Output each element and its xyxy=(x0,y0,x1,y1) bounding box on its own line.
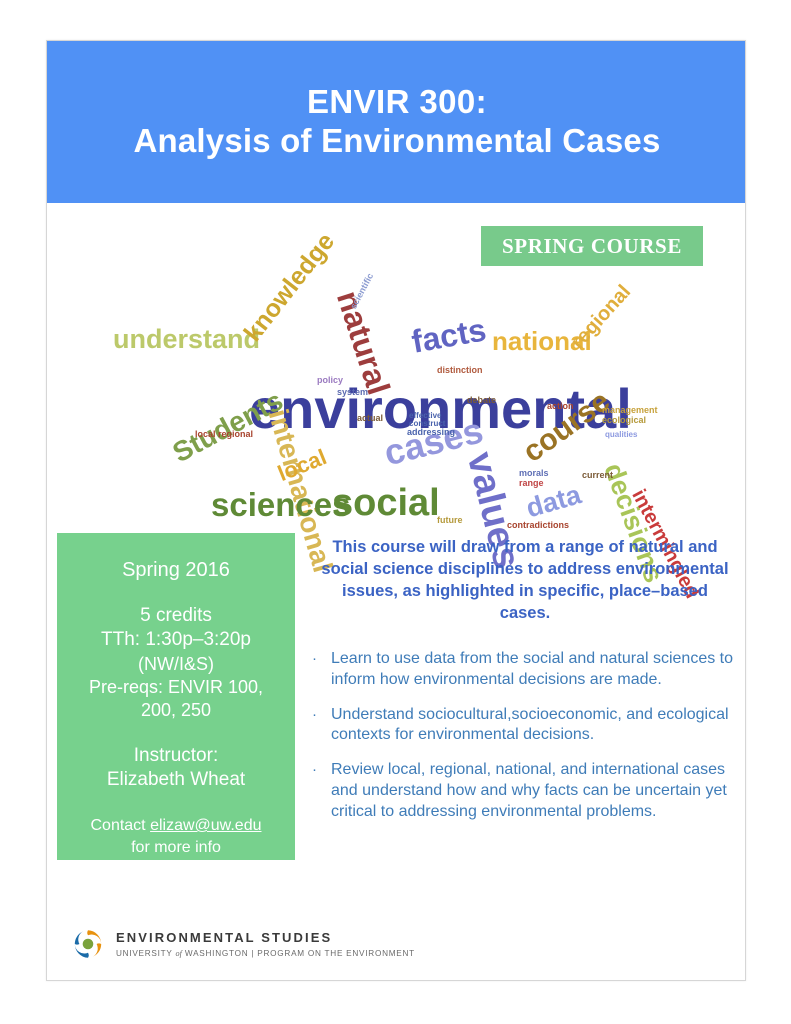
footer-logo-text: ENVIRONMENTAL STUDIES UNIVERSITY of WASH… xyxy=(116,930,415,958)
learning-objectives-list: · Learn to use data from the social and … xyxy=(309,649,739,837)
org-name: ENVIRONMENTAL STUDIES xyxy=(116,930,415,945)
bullet-dot-icon: · xyxy=(309,705,331,747)
cloud-word: regional xyxy=(568,281,635,352)
prereqs-line-2: 200, 250 xyxy=(69,699,283,722)
cloud-word: debate xyxy=(467,396,496,405)
cloud-word: understand xyxy=(113,326,260,353)
cloud-word: construct xyxy=(409,420,445,428)
term-label: Spring 2016 xyxy=(69,559,283,582)
credits-label: 5 credits xyxy=(69,604,283,628)
objective-text: Learn to use data from the social and na… xyxy=(331,649,739,691)
cloud-word: local regional xyxy=(195,430,253,439)
header-banner: ENVIR 300: Analysis of Environmental Cas… xyxy=(47,41,746,203)
contact-line: Contact elizaw@uw.edu xyxy=(69,815,283,837)
course-description: This course will draw from a range of na… xyxy=(315,536,735,624)
cloud-word: actual xyxy=(357,414,383,423)
bullet-dot-icon: · xyxy=(309,649,331,691)
cloud-word: social xyxy=(332,484,440,522)
flyer-page: ENVIR 300: Analysis of Environmental Cas… xyxy=(46,40,746,981)
word-cloud-image: environmentalunderstandknowledgenaturalf… xyxy=(107,216,687,526)
cloud-word: action xyxy=(547,402,574,411)
requirement-code-label: (NW/I&S) xyxy=(69,653,283,676)
org-tagline: UNIVERSITY of WASHINGTON | PROGRAM ON TH… xyxy=(116,949,415,958)
cloud-word: range xyxy=(519,479,544,488)
cloud-word: knowledge xyxy=(240,229,339,346)
cloud-word: addressing xyxy=(407,428,455,437)
course-title: Analysis of Environmental Cases xyxy=(133,122,660,161)
instructor-name: Elizabeth Wheat xyxy=(69,768,283,793)
tagline-after: WASHINGTON | PROGRAM ON THE ENVIRONMENT xyxy=(182,949,415,958)
instructor-label: Instructor: xyxy=(69,744,283,769)
list-item: · Review local, regional, national, and … xyxy=(309,760,739,822)
cloud-word: system xyxy=(337,388,368,397)
objective-text: Understand sociocultural,socioeconomic, … xyxy=(331,705,739,747)
swirl-logo-svg xyxy=(71,927,105,961)
cloud-word: management xyxy=(602,406,658,415)
cloud-word: facts xyxy=(409,313,488,357)
contact-suffix: for more info xyxy=(69,837,283,859)
cloud-word: contradictions xyxy=(507,521,569,530)
uw-environment-swirl-icon xyxy=(71,927,105,961)
instructor-block: Instructor: Elizabeth Wheat xyxy=(69,744,283,793)
cloud-word: current xyxy=(582,471,613,480)
cloud-word: policy xyxy=(317,376,343,385)
cloud-word: ecological xyxy=(602,416,646,425)
contact-email-link[interactable]: elizaw@uw.edu xyxy=(150,817,261,834)
prereqs-line-1: Pre-reqs: ENVIR 100, xyxy=(69,676,283,699)
footer-logo: ENVIRONMENTAL STUDIES UNIVERSITY of WASH… xyxy=(71,921,471,967)
list-item: · Understand sociocultural,socioeconomic… xyxy=(309,705,739,747)
cloud-word: morals xyxy=(519,469,549,478)
contact-prefix: Contact xyxy=(90,817,150,834)
cloud-word: future xyxy=(437,516,463,525)
cloud-word: distinction xyxy=(437,366,483,375)
objective-text: Review local, regional, national, and in… xyxy=(331,760,739,822)
bullet-dot-icon: · xyxy=(309,760,331,822)
list-item: · Learn to use data from the social and … xyxy=(309,649,739,691)
contact-block: Contact elizaw@uw.edu for more info xyxy=(69,815,283,858)
tagline-before: UNIVERSITY xyxy=(116,949,176,958)
course-info-panel: Spring 2016 5 credits TTh: 1:30p–3:20p (… xyxy=(57,533,295,860)
logistics-block: 5 credits TTh: 1:30p–3:20p (NW/I&S) Pre-… xyxy=(69,604,283,722)
cloud-word: sciences xyxy=(211,488,350,521)
course-code: ENVIR 300: xyxy=(307,83,487,122)
cloud-word: qualities xyxy=(605,431,637,439)
meeting-time-label: TTh: 1:30p–3:20p xyxy=(69,628,283,652)
